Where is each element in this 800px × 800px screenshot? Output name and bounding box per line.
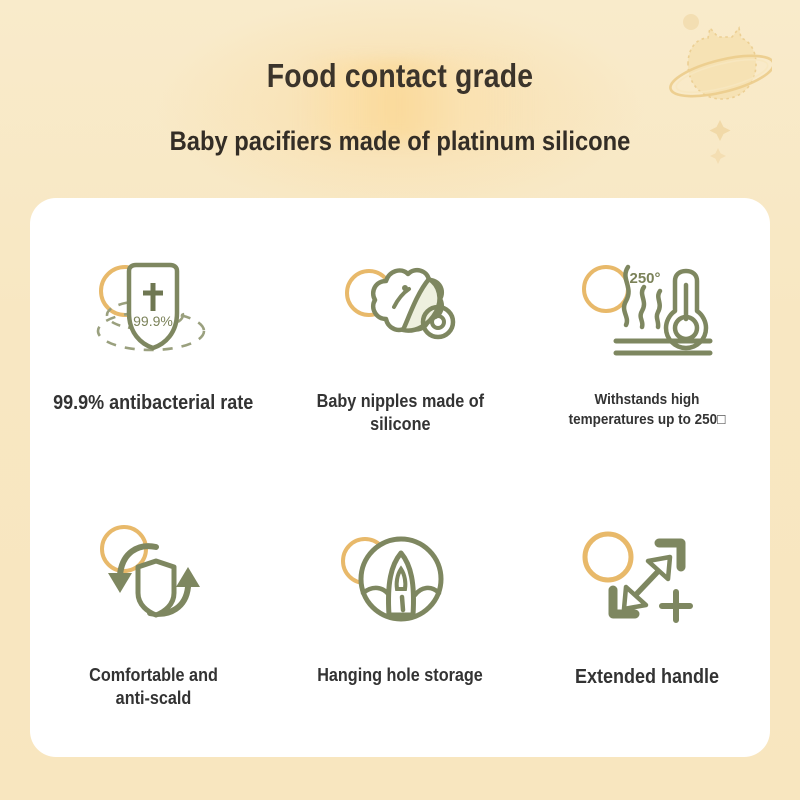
feature-item-hanging-hole: Hanging hole storage bbox=[277, 478, 524, 758]
feature-label: 99.9% antibacterial rate bbox=[53, 390, 253, 416]
feature-item-high-temperature: 250° Withstands high temperatures up to … bbox=[523, 198, 770, 478]
pacifier-icon bbox=[325, 245, 475, 365]
expand-handle-icon bbox=[572, 519, 722, 634]
shield-antibacterial-icon: 99.9% bbox=[73, 245, 233, 365]
feature-icon-wrap bbox=[78, 502, 228, 652]
feature-label: Hanging hole storage bbox=[317, 664, 483, 687]
thermometer-icon-value: 250° bbox=[629, 270, 660, 287]
feature-label: Withstands high temperatures up to 250□ bbox=[552, 390, 741, 429]
shield-icon-value: 99.9% bbox=[133, 313, 173, 329]
feature-item-anti-scald: Comfortable and anti-scald bbox=[30, 478, 277, 758]
shield-arrows-icon bbox=[78, 517, 228, 637]
feature-item-antibacterial: 99.9% 99.9% antibacterial rate bbox=[30, 198, 277, 478]
feature-icon-wrap bbox=[572, 502, 722, 652]
page-subtitle: Baby pacifiers made of platinum silicone bbox=[48, 126, 752, 157]
thermometer-heat-icon: 250° bbox=[572, 245, 722, 365]
feature-icon-wrap: 99.9% bbox=[73, 230, 233, 380]
pacifier-hanging-hole-icon bbox=[325, 517, 475, 637]
feature-icon-wrap: 250° bbox=[572, 230, 722, 380]
feature-label: Extended handle bbox=[575, 664, 719, 690]
page-header: Food contact grade Baby pacifiers made o… bbox=[0, 0, 800, 198]
feature-label: Comfortable and anti-scald bbox=[89, 664, 218, 711]
features-grid: 99.9% 99.9% antibacterial rate Baby nipp… bbox=[30, 198, 770, 757]
features-card: 99.9% 99.9% antibacterial rate Baby nipp… bbox=[30, 198, 770, 757]
feature-label: Baby nipples made of silicone bbox=[289, 390, 511, 437]
feature-item-extended-handle: Extended handle bbox=[523, 478, 770, 758]
feature-icon-wrap bbox=[325, 502, 475, 652]
feature-icon-wrap bbox=[325, 230, 475, 380]
feature-item-silicone-nipple: Baby nipples made of silicone bbox=[277, 198, 524, 478]
page-title: Food contact grade bbox=[56, 57, 744, 95]
